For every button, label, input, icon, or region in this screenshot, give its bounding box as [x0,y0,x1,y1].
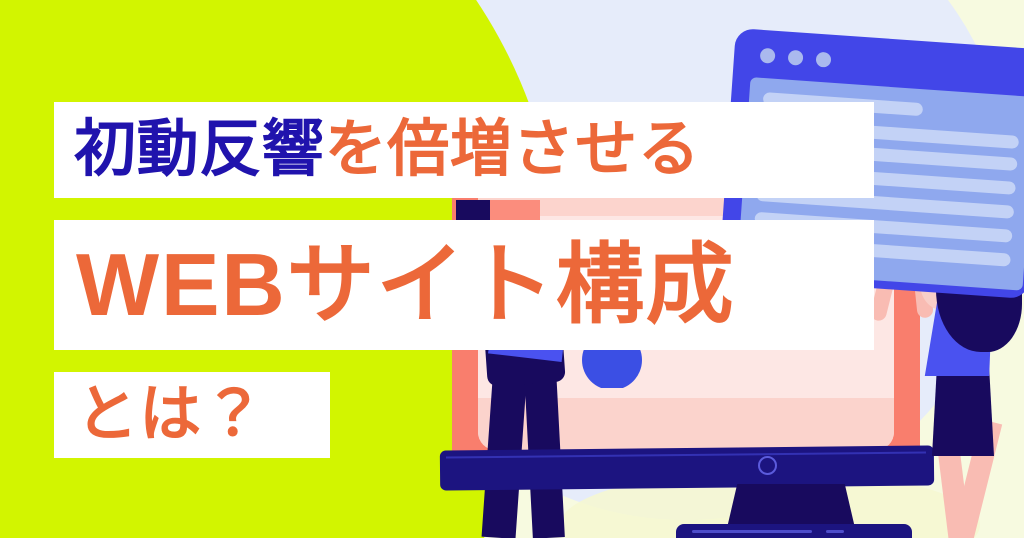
headline-line2-text: WEBサイト構成 [76,241,735,329]
monitor-base-highlight [692,530,812,533]
headline-line1-orange: を倍増させる [325,119,701,181]
person-right-skirt [932,366,994,456]
banner-root: 初動反響を倍増させる WEBサイト構成 とは？ [0,0,1024,538]
headline-line-1: 初動反響を倍増させる [54,102,874,198]
monitor-stand [727,484,855,528]
headline-line-2: WEBサイト構成 [54,220,874,350]
browser-titlebar-dots [760,48,832,68]
browser-dot-icon [815,52,831,68]
headline-line-3: とは？ [54,372,330,458]
monitor-power-indicator [758,456,777,475]
headline-line3-text: とは？ [76,384,266,446]
headline-line1-navy: 初動反響 [74,119,325,181]
browser-dot-icon [788,50,804,66]
monitor-base-highlight-2 [826,530,844,533]
browser-dot-icon [760,48,776,64]
